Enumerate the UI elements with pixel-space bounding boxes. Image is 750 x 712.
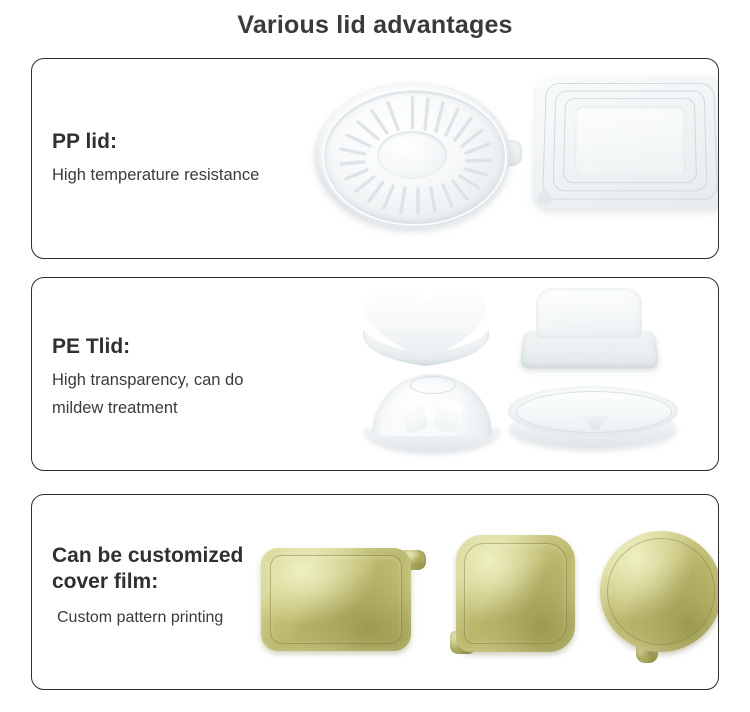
card-pp-lid-heading: PP lid: (52, 129, 259, 155)
card-pp-lid: PP lid: High temperature resistance (31, 58, 719, 259)
gold-round-inner-ring (607, 538, 715, 645)
gold-round-foil-lid-image (592, 531, 719, 666)
square-pe-dome-lid-image (522, 288, 657, 370)
gold-rect-body (261, 548, 411, 651)
round-pe-dome-lid-image (362, 374, 502, 454)
oval-pe-flat-lid-image (508, 386, 678, 450)
round-ribbed-pp-lid-image (307, 74, 522, 239)
card-cover-film: Can be customized cover film: Custom pat… (31, 494, 719, 690)
heart-shaped-pe-lid-image (357, 286, 497, 370)
round-lid-outer-rim (322, 88, 507, 226)
card-cover-film-text: Can be customized cover film: Custom pat… (52, 543, 243, 632)
card-pe-lid-heading: PE Tlid: (52, 334, 243, 360)
gold-rect-inner-panel (270, 555, 402, 644)
card-pp-lid-text: PP lid: High temperature resistance (52, 129, 259, 189)
rect-lid-center-panel (574, 106, 685, 175)
card-pe-lid: PE Tlid: High transparency, can do milde… (31, 277, 719, 471)
gold-square-foil-lid-image (448, 535, 583, 663)
rect-lid-corner-notch (538, 192, 552, 203)
card-pp-lid-description: High temperature resistance (52, 161, 259, 189)
card-pe-lid-description: High transparency, can do mildew treatme… (52, 366, 243, 423)
card-pe-lid-text: PE Tlid: High transparency, can do milde… (52, 334, 243, 422)
page-title: Various lid advantages (0, 11, 750, 40)
card-cover-film-heading: Can be customized cover film: (52, 543, 243, 594)
dome-lid-top-ring (410, 376, 456, 394)
square-lid-dome (536, 288, 642, 338)
gold-square-inner-panel (464, 543, 567, 644)
gold-round-body (600, 531, 719, 652)
rectangular-pp-lid-image (535, 73, 719, 228)
rect-lid-body (533, 75, 719, 207)
gold-square-body (456, 535, 575, 652)
card-cover-film-description: Custom pattern printing (52, 604, 243, 632)
gold-rectangular-foil-lid-image (261, 540, 426, 655)
